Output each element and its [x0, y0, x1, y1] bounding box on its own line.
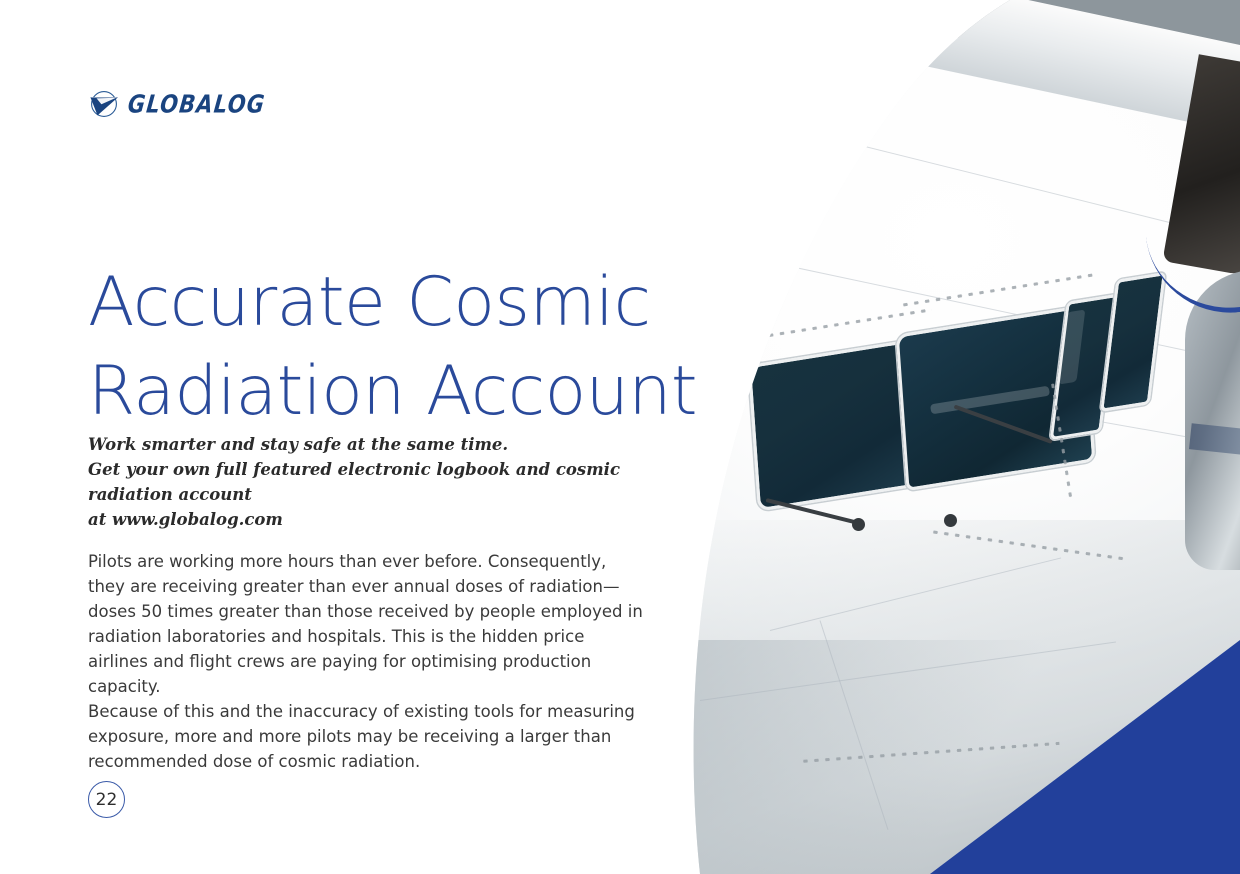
body-paragraph-2: Because of this and the inaccuracy of ex… [88, 699, 648, 774]
globalog-logo[interactable]: GLOBALOG [88, 90, 265, 118]
brochure-page: GLOBALOG Accurate Cosmic Radiation Accou… [0, 0, 1240, 874]
lede-line-2: Get your own full featured electronic lo… [88, 460, 620, 504]
body-paragraph-1: Pilots are working more hours than ever … [88, 549, 648, 699]
page-title: Accurate Cosmic Radiation Account [88, 258, 708, 438]
page-title-line-2: Radiation Account [88, 352, 697, 431]
page-title-line-1: Accurate Cosmic [88, 263, 650, 342]
lede-text: Work smarter and stay safe at the same t… [88, 432, 668, 532]
wiper-pivot [944, 514, 957, 527]
lede-line-1: Work smarter and stay safe at the same t… [88, 435, 508, 454]
wiper-pivot [852, 518, 865, 531]
engine-nacelle [1185, 270, 1240, 570]
lede-line-3: at www.globalog.com [88, 510, 283, 529]
globalog-wordmark: GLOBALOG [127, 90, 267, 118]
globalog-swoosh-icon [88, 90, 122, 118]
page-number-badge: 22 [88, 781, 125, 818]
